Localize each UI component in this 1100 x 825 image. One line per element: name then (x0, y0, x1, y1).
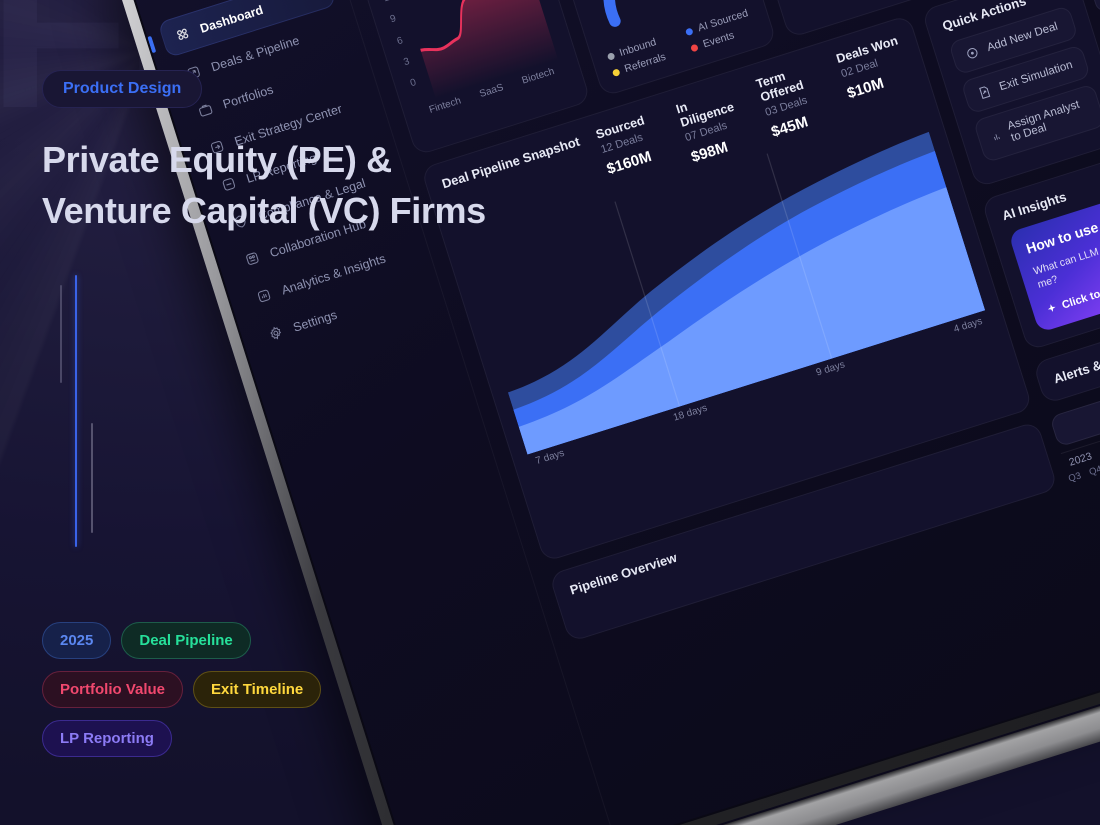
hero-section: Product Design Private Equity (PE) & Ven… (42, 70, 512, 237)
keyword-tags: 2025 Deal Pipeline Portfolio Value Exit … (42, 622, 342, 757)
legend-dot (606, 52, 615, 61)
title-line-2: Venture Capital (VC) Firms (42, 185, 512, 236)
sidebar-item-label: Dashboard (198, 2, 264, 35)
quarter-label: Q3 (1067, 470, 1082, 484)
action-label: Exit Simulation (998, 59, 1074, 93)
stat-deals-won: Deals Won 02 Deal $10M (835, 33, 914, 102)
tag-deal-pipeline[interactable]: Deal Pipeline (121, 622, 250, 659)
y-tick: 6 (396, 33, 410, 47)
year-group-2023: 2023 Q3 Q4 (1062, 448, 1100, 484)
y-tick: 12 (382, 0, 396, 4)
page-title: Private Equity (PE) & Venture Capital (V… (42, 134, 512, 237)
stat-in-diligence: In Diligence 07 Deals $98M (674, 83, 757, 166)
target-icon-button[interactable] (1088, 0, 1100, 13)
sidebar-item-label: Settings (291, 307, 338, 334)
category-tag[interactable]: Product Design (42, 70, 202, 108)
tag-lp-reporting[interactable]: LP Reporting (42, 720, 172, 757)
line-blue (75, 275, 77, 547)
gear-icon (266, 324, 285, 343)
legend-dot (690, 43, 699, 52)
action-label: Add New Deal (986, 21, 1060, 55)
sparkle-icon (1044, 301, 1059, 316)
file-exit-icon (976, 84, 994, 102)
legend-label: Events (702, 29, 736, 50)
bars-icon (990, 129, 1004, 145)
tag-exit-timeline[interactable]: Exit Timeline (193, 671, 321, 708)
x-axis-labels: W1 W2 W3 W4 W5 (793, 0, 934, 5)
decorative-lines (58, 275, 128, 565)
collab-icon (243, 249, 262, 268)
stat-sourced: Sourced 12 Deals $160M (594, 109, 673, 178)
tag-2025[interactable]: 2025 (42, 622, 111, 659)
tag-portfolio-value[interactable]: Portfolio Value (42, 671, 183, 708)
x-tick: W1 (799, 0, 817, 3)
legend-dot (611, 68, 620, 77)
quarter-label: Q4 (1088, 464, 1100, 478)
ai-cta-label: Click to know (1060, 279, 1100, 312)
legend-dot (685, 27, 694, 36)
y-tick: 3 (402, 54, 416, 68)
line-gray-top (60, 285, 62, 383)
plus-circle-icon (963, 44, 981, 62)
action-label: Assign Analyst to Deal (1006, 97, 1091, 144)
stat-term-offered: Term Offered 03 Deals $45M (754, 58, 837, 141)
page-stage: FINANCE Version 01. (0, 0, 1100, 825)
chart-icon (255, 286, 274, 305)
line-gray-bottom (91, 423, 93, 533)
y-tick: 9 (389, 12, 403, 26)
grid-icon (173, 25, 192, 44)
title-line-1: Private Equity (PE) & (42, 134, 512, 185)
